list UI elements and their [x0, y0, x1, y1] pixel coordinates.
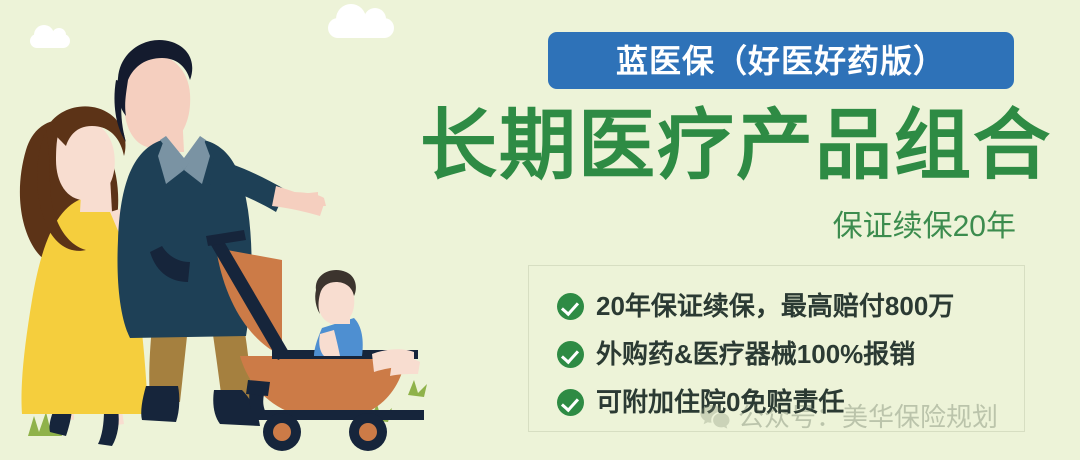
check-circle-icon [557, 341, 584, 368]
product-name-badge: 蓝医保（好医好药版） [548, 32, 1014, 89]
headline: 长期医疗产品组合 [420, 108, 1016, 185]
feature-label: 外购药&医疗器械100%报销 [596, 341, 915, 367]
check-circle-icon [557, 389, 584, 416]
watermark-label: 公众号：美华保险规划 [738, 404, 998, 430]
wechat-icon [700, 404, 730, 430]
feature-item: 20年保证续保，最高赔付800万 [557, 282, 1024, 330]
watermark: 公众号：美华保险规划 [700, 404, 998, 430]
product-name-label: 蓝医保（好医好药版） [616, 45, 946, 77]
feature-label: 20年保证续保，最高赔付800万 [596, 293, 954, 319]
check-circle-icon [557, 293, 584, 320]
family-with-stroller-illustration [0, 0, 470, 460]
promotional-banner: 蓝医保（好医好药版） 长期医疗产品组合 保证续保20年 20年保证续保，最高赔付… [0, 0, 1080, 460]
feature-item: 外购药&医疗器械100%报销 [557, 330, 1024, 378]
subheadline: 保证续保20年 [420, 212, 1016, 242]
